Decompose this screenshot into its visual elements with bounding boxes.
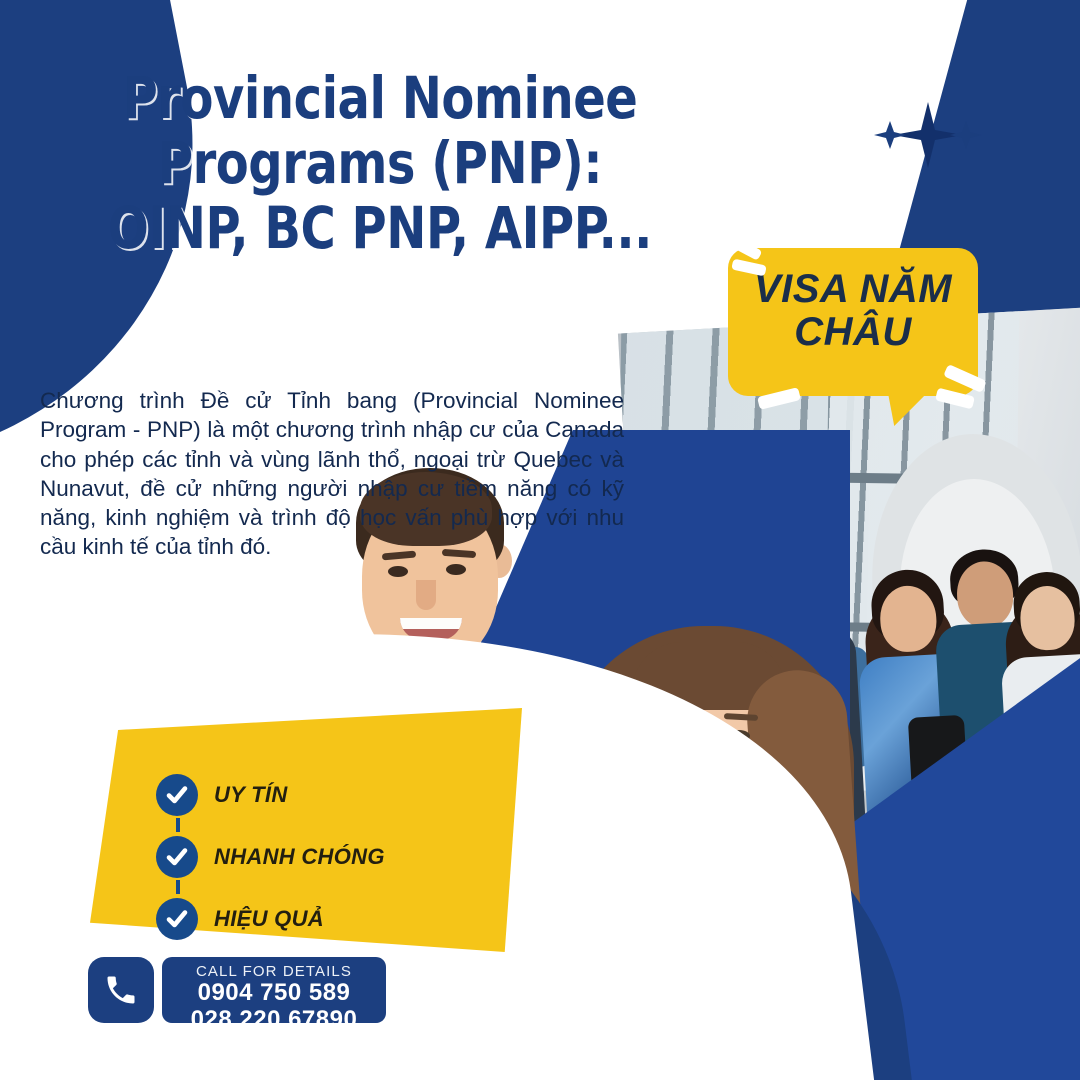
benefit-label: HIỆU QUẢ bbox=[214, 906, 324, 932]
sparkle-icon bbox=[868, 100, 988, 170]
check-icon bbox=[156, 898, 198, 940]
poster-canvas: Provincial Nominee Programs (PNP): OINP,… bbox=[0, 0, 1080, 1080]
check-icon bbox=[156, 836, 198, 878]
benefit-item-2: NHANH CHÓNG bbox=[156, 832, 486, 882]
contact-details[interactable]: CALL FOR DETAILS 0904 750 589 028 220 67… bbox=[162, 957, 386, 1023]
benefits-list: UY TÍN NHANH CHÓNG HIỆU QUẢ bbox=[156, 770, 486, 956]
check-icon bbox=[156, 774, 198, 816]
badge-line-1: VISA NĂM bbox=[728, 268, 978, 311]
badge-line-2: CHÂU bbox=[728, 311, 978, 354]
phone-icon[interactable] bbox=[88, 957, 154, 1023]
speech-bubble-text: VISA NĂM CHÂU bbox=[728, 268, 978, 354]
benefit-item-3: HIỆU QUẢ bbox=[156, 894, 486, 944]
benefit-item-1: UY TÍN bbox=[156, 770, 486, 820]
benefit-label: NHANH CHÓNG bbox=[214, 844, 385, 870]
benefit-label: UY TÍN bbox=[214, 782, 288, 808]
page-title: Provincial Nominee Programs (PNP): OINP,… bbox=[86, 66, 675, 261]
contact-title: CALL FOR DETAILS bbox=[162, 963, 386, 980]
phone-secondary[interactable]: 028 220 67890 bbox=[162, 1007, 386, 1034]
phone-primary[interactable]: 0904 750 589 bbox=[162, 980, 386, 1007]
body-paragraph: Chương trình Đề cử Tỉnh bang (Provincial… bbox=[40, 386, 624, 562]
